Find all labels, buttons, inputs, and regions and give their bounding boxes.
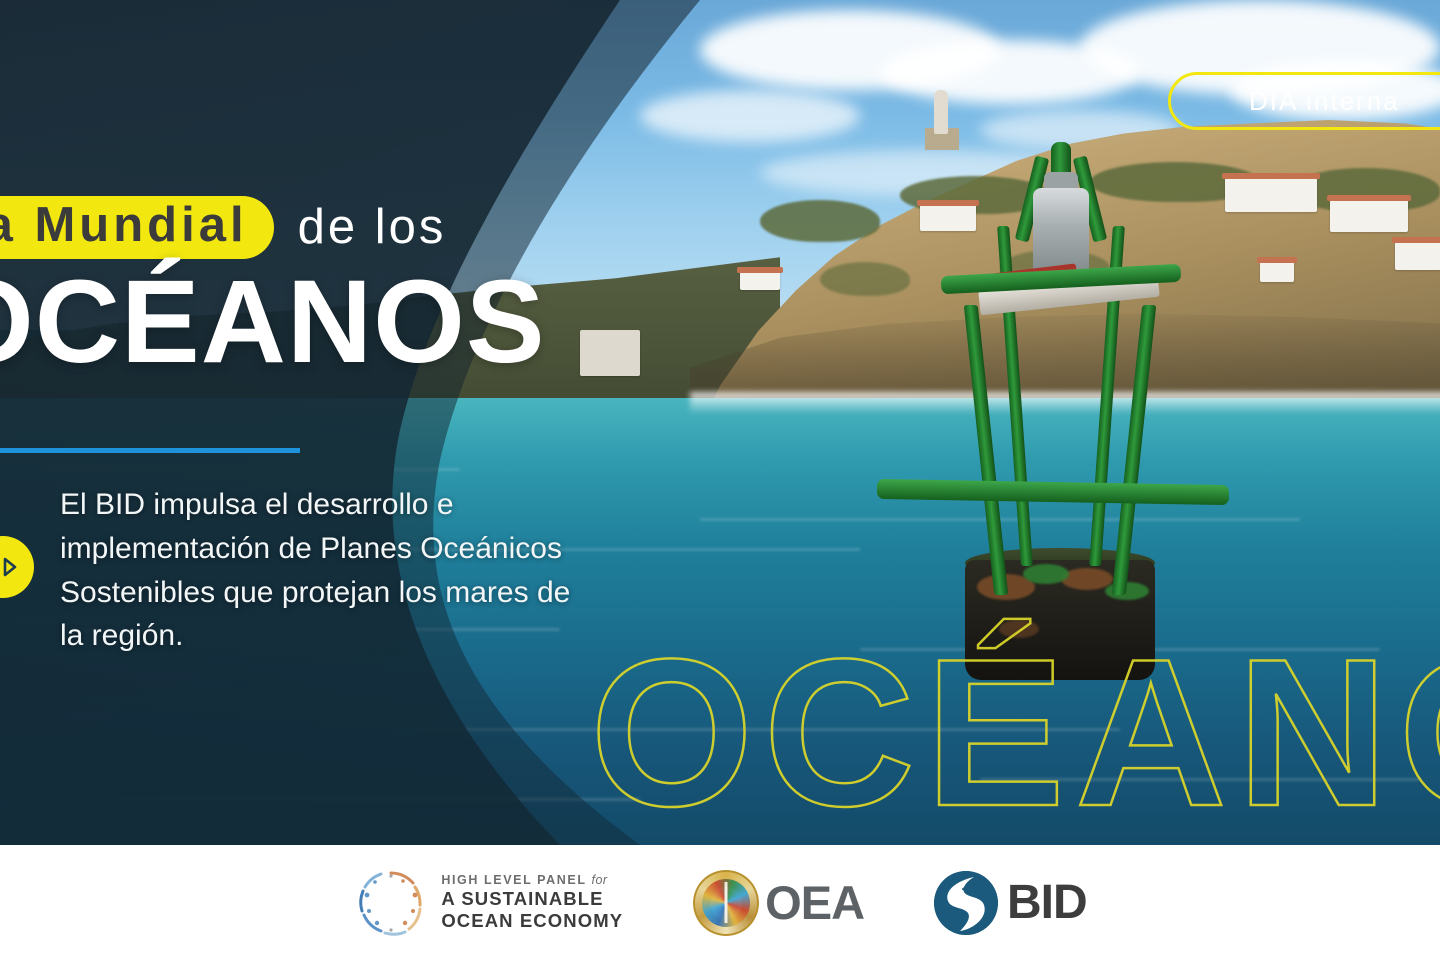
hilltop-statue (934, 90, 948, 134)
dia-internacional-badge[interactable]: DÍA interna (1168, 72, 1440, 130)
hlp-line-2: A SUSTAINABLE (441, 888, 623, 910)
hlp-line-3: OCEAN ECONOMY (441, 910, 623, 932)
headline-highlight-pill: ía Mundial (0, 196, 274, 259)
badge-label: DÍA interna (1249, 86, 1400, 117)
hlp-circular-mark (353, 865, 429, 941)
bid-wordmark: BID (1007, 875, 1087, 930)
page-title: OCÉANOS (0, 263, 702, 381)
oea-seal-icon (693, 870, 759, 936)
hlp-line-1-italic: for (591, 873, 607, 887)
logo-oea[interactable]: OEA (693, 870, 864, 936)
title-divider (0, 448, 300, 453)
body-paragraph: El BID impulsa el desarrollo e implement… (60, 483, 580, 658)
cliffside-house (740, 272, 780, 290)
cliffside-house (1330, 200, 1408, 232)
oea-wordmark: OEA (765, 875, 864, 930)
headline-block: ía Mundial de los OCÉANOS (0, 196, 702, 381)
hlp-line-1: HIGH LEVEL PANEL (441, 873, 586, 887)
logo-high-level-panel[interactable]: HIGH LEVEL PANEL for A SUSTAINABLE OCEAN… (353, 865, 623, 941)
headline-line-1: ía Mundial de los (0, 196, 702, 259)
cliffside-house (1395, 242, 1440, 270)
headline-rest: de los (298, 203, 447, 252)
navigation-buoy (905, 130, 1205, 690)
cliffside-house (1260, 262, 1294, 282)
cliffside-house (1225, 178, 1317, 212)
bid-americas-icon (934, 871, 998, 935)
ocean-day-banner: OCÉANO ía Mundial de los OCÉANOS El BID … (0, 0, 1440, 960)
partner-logo-bar: HIGH LEVEL PANEL for A SUSTAINABLE OCEAN… (0, 845, 1440, 960)
logo-bid[interactable]: BID (934, 871, 1087, 935)
